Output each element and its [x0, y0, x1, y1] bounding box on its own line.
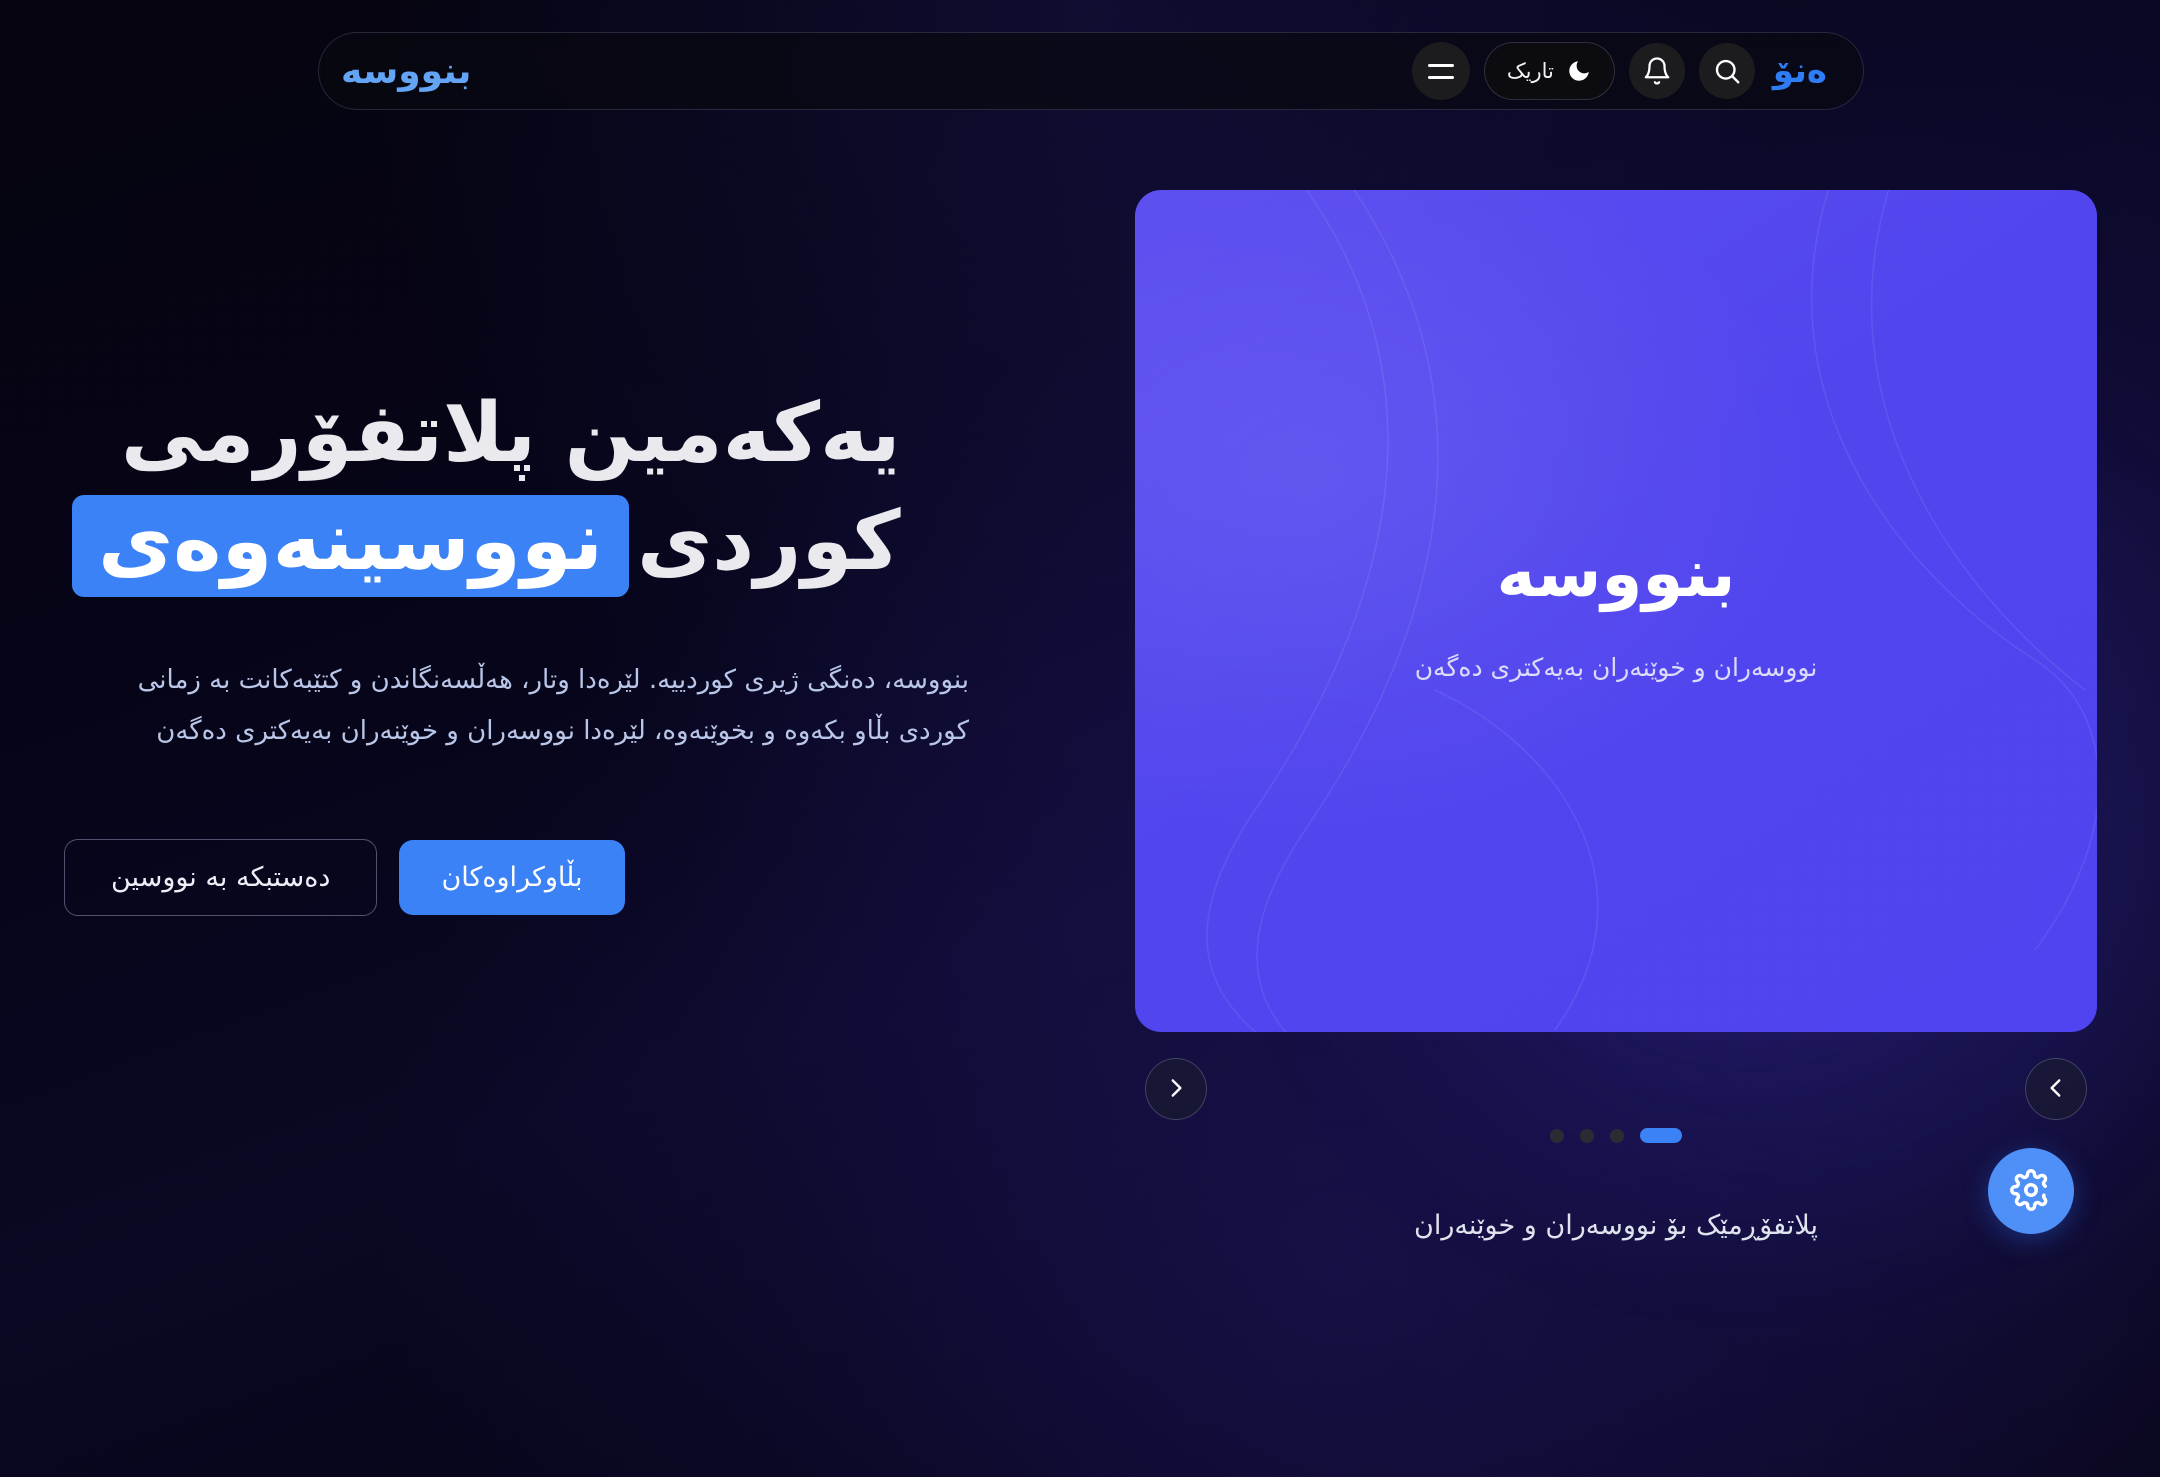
theme-toggle-label: تاریک: [1507, 59, 1554, 84]
page-root: تاریک ەنۆ: [0, 0, 2160, 1477]
carousel-dot-1[interactable]: [1640, 1128, 1682, 1143]
hero-description: بنووسە، دەنگی ژیری کوردییە. لێرەدا وتار،…: [64, 655, 969, 756]
slide-title: بنووسە: [1496, 541, 1735, 607]
hero-section: بنووسە نووسەران و خوێنەران بەیەکتری دەگە…: [0, 190, 2160, 1310]
navbar-right-group: بنووسە: [335, 51, 471, 92]
search-icon: [1712, 56, 1742, 86]
carousel-dots: [1135, 1128, 2097, 1143]
hamburger-icon-bar: [1428, 64, 1454, 67]
carousel-slide[interactable]: بنووسە نووسەران و خوێنەران بەیەکتری دەگە…: [1135, 190, 2097, 1032]
carousel-dot-2[interactable]: [1610, 1129, 1624, 1143]
top-navbar: تاریک ەنۆ: [318, 32, 1864, 110]
search-button[interactable]: [1699, 43, 1755, 99]
hero-title-line2-word: کوردی: [637, 494, 901, 589]
hamburger-icon-bar: [1428, 76, 1454, 79]
carousel-controls: [1135, 1058, 2097, 1132]
settings-fab-button[interactable]: [1988, 1148, 2074, 1234]
gear-icon: [2010, 1169, 2052, 1214]
hero-text-block: یەکەمین پلاتفۆرمی کوردینووسینەوەی بنووسە…: [64, 380, 1036, 1310]
hero-action-buttons: بڵاوکراوەکان دەستبکە بە نووسین: [64, 839, 625, 916]
chevron-left-icon: [2043, 1075, 2069, 1104]
moon-icon: [1566, 58, 1592, 84]
publications-button[interactable]: بڵاوکراوەکان: [399, 840, 624, 915]
navbar-left-group: تاریک ەنۆ: [1412, 42, 1837, 100]
hero-title-line1: یەکەمین پلاتفۆرمی: [121, 386, 901, 481]
carousel-caption: پلاتفۆڕمێک بۆ نووسەران و خوێنەران: [1414, 1210, 1818, 1241]
carousel-dot-3[interactable]: [1580, 1129, 1594, 1143]
notifications-button[interactable]: [1629, 43, 1685, 99]
theme-toggle-button[interactable]: تاریک: [1484, 42, 1615, 100]
brand-mark-icon: ەنۆ: [1769, 54, 1837, 88]
start-writing-button[interactable]: دەستبکە بە نووسین: [64, 839, 377, 916]
brand-title[interactable]: بنووسە: [335, 51, 471, 92]
bell-icon: [1642, 56, 1672, 86]
hero-carousel: بنووسە نووسەران و خوێنەران بەیەکتری دەگە…: [1136, 190, 2096, 1310]
carousel-next-button[interactable]: [1145, 1058, 1207, 1120]
carousel-prev-button[interactable]: [2025, 1058, 2087, 1120]
hero-title: یەکەمین پلاتفۆرمی کوردینووسینەوەی: [64, 380, 901, 597]
hero-title-highlight: نووسینەوەی: [72, 495, 629, 597]
slide-subtitle: نووسەران و خوێنەران بەیەکتری دەگەن: [1415, 653, 1818, 682]
hamburger-menu-button[interactable]: [1412, 42, 1470, 100]
chevron-right-icon: [1163, 1075, 1189, 1104]
carousel-dot-4[interactable]: [1550, 1129, 1564, 1143]
